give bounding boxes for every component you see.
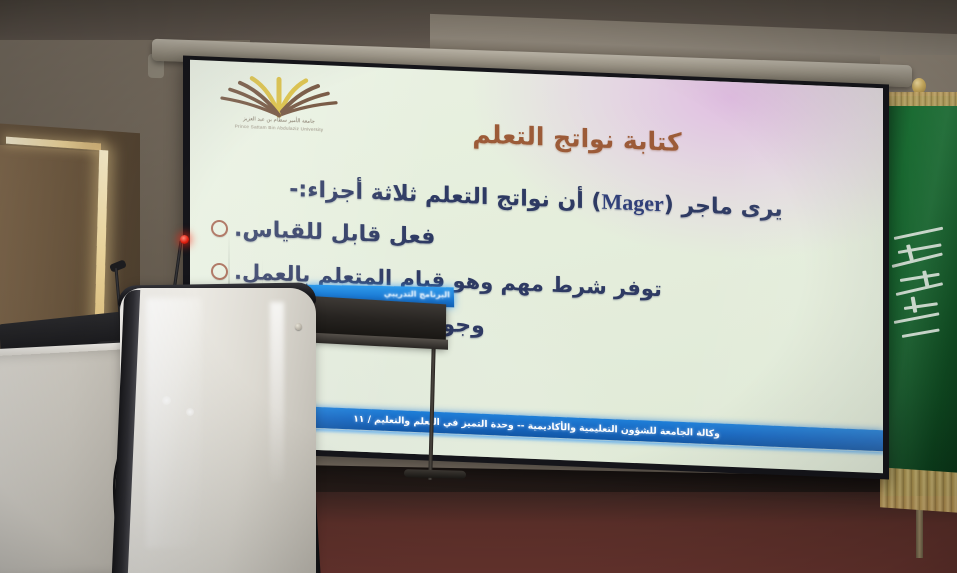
bullet-circle-icon bbox=[211, 220, 228, 238]
mager-name: Mager bbox=[601, 189, 663, 217]
flag-fringe-bottom bbox=[880, 467, 957, 512]
slide-bullet-1: فعل قابل للقياس. bbox=[211, 216, 861, 268]
screen-stand-foot bbox=[404, 469, 466, 479]
podium-screw bbox=[295, 323, 302, 330]
slide-title: كتابة نواتج التعلم bbox=[317, 113, 837, 163]
flag-shahada-script bbox=[890, 231, 952, 361]
overlay-blue-banner-text: البرنامج التدريبي bbox=[384, 289, 450, 299]
lecture-room-photo: جامعة الأمير سطام بن عبد العزيز Prince S… bbox=[0, 0, 957, 573]
podium-light-spot bbox=[186, 408, 194, 416]
podium-gloss bbox=[270, 302, 284, 482]
bullet-circle-icon bbox=[211, 262, 228, 280]
bullet-1-text: فعل قابل للقياس. bbox=[234, 217, 435, 250]
intro-text-before: يرى ماجر ( bbox=[664, 192, 783, 222]
podium-gloss bbox=[146, 298, 202, 548]
slide-intro-line: يرى ماجر (Mager) أن نواتج التعلم ثلاثة أ… bbox=[211, 173, 861, 226]
lectern-podium bbox=[120, 288, 316, 573]
intro-text-after: ) أن نواتج التعلم ثلاثة أجزاء:- bbox=[289, 177, 601, 215]
saudi-flag bbox=[884, 96, 957, 496]
flag-fringe-top bbox=[884, 92, 957, 106]
podium-light-spot bbox=[162, 396, 171, 405]
microphone-led-indicator bbox=[180, 235, 189, 244]
